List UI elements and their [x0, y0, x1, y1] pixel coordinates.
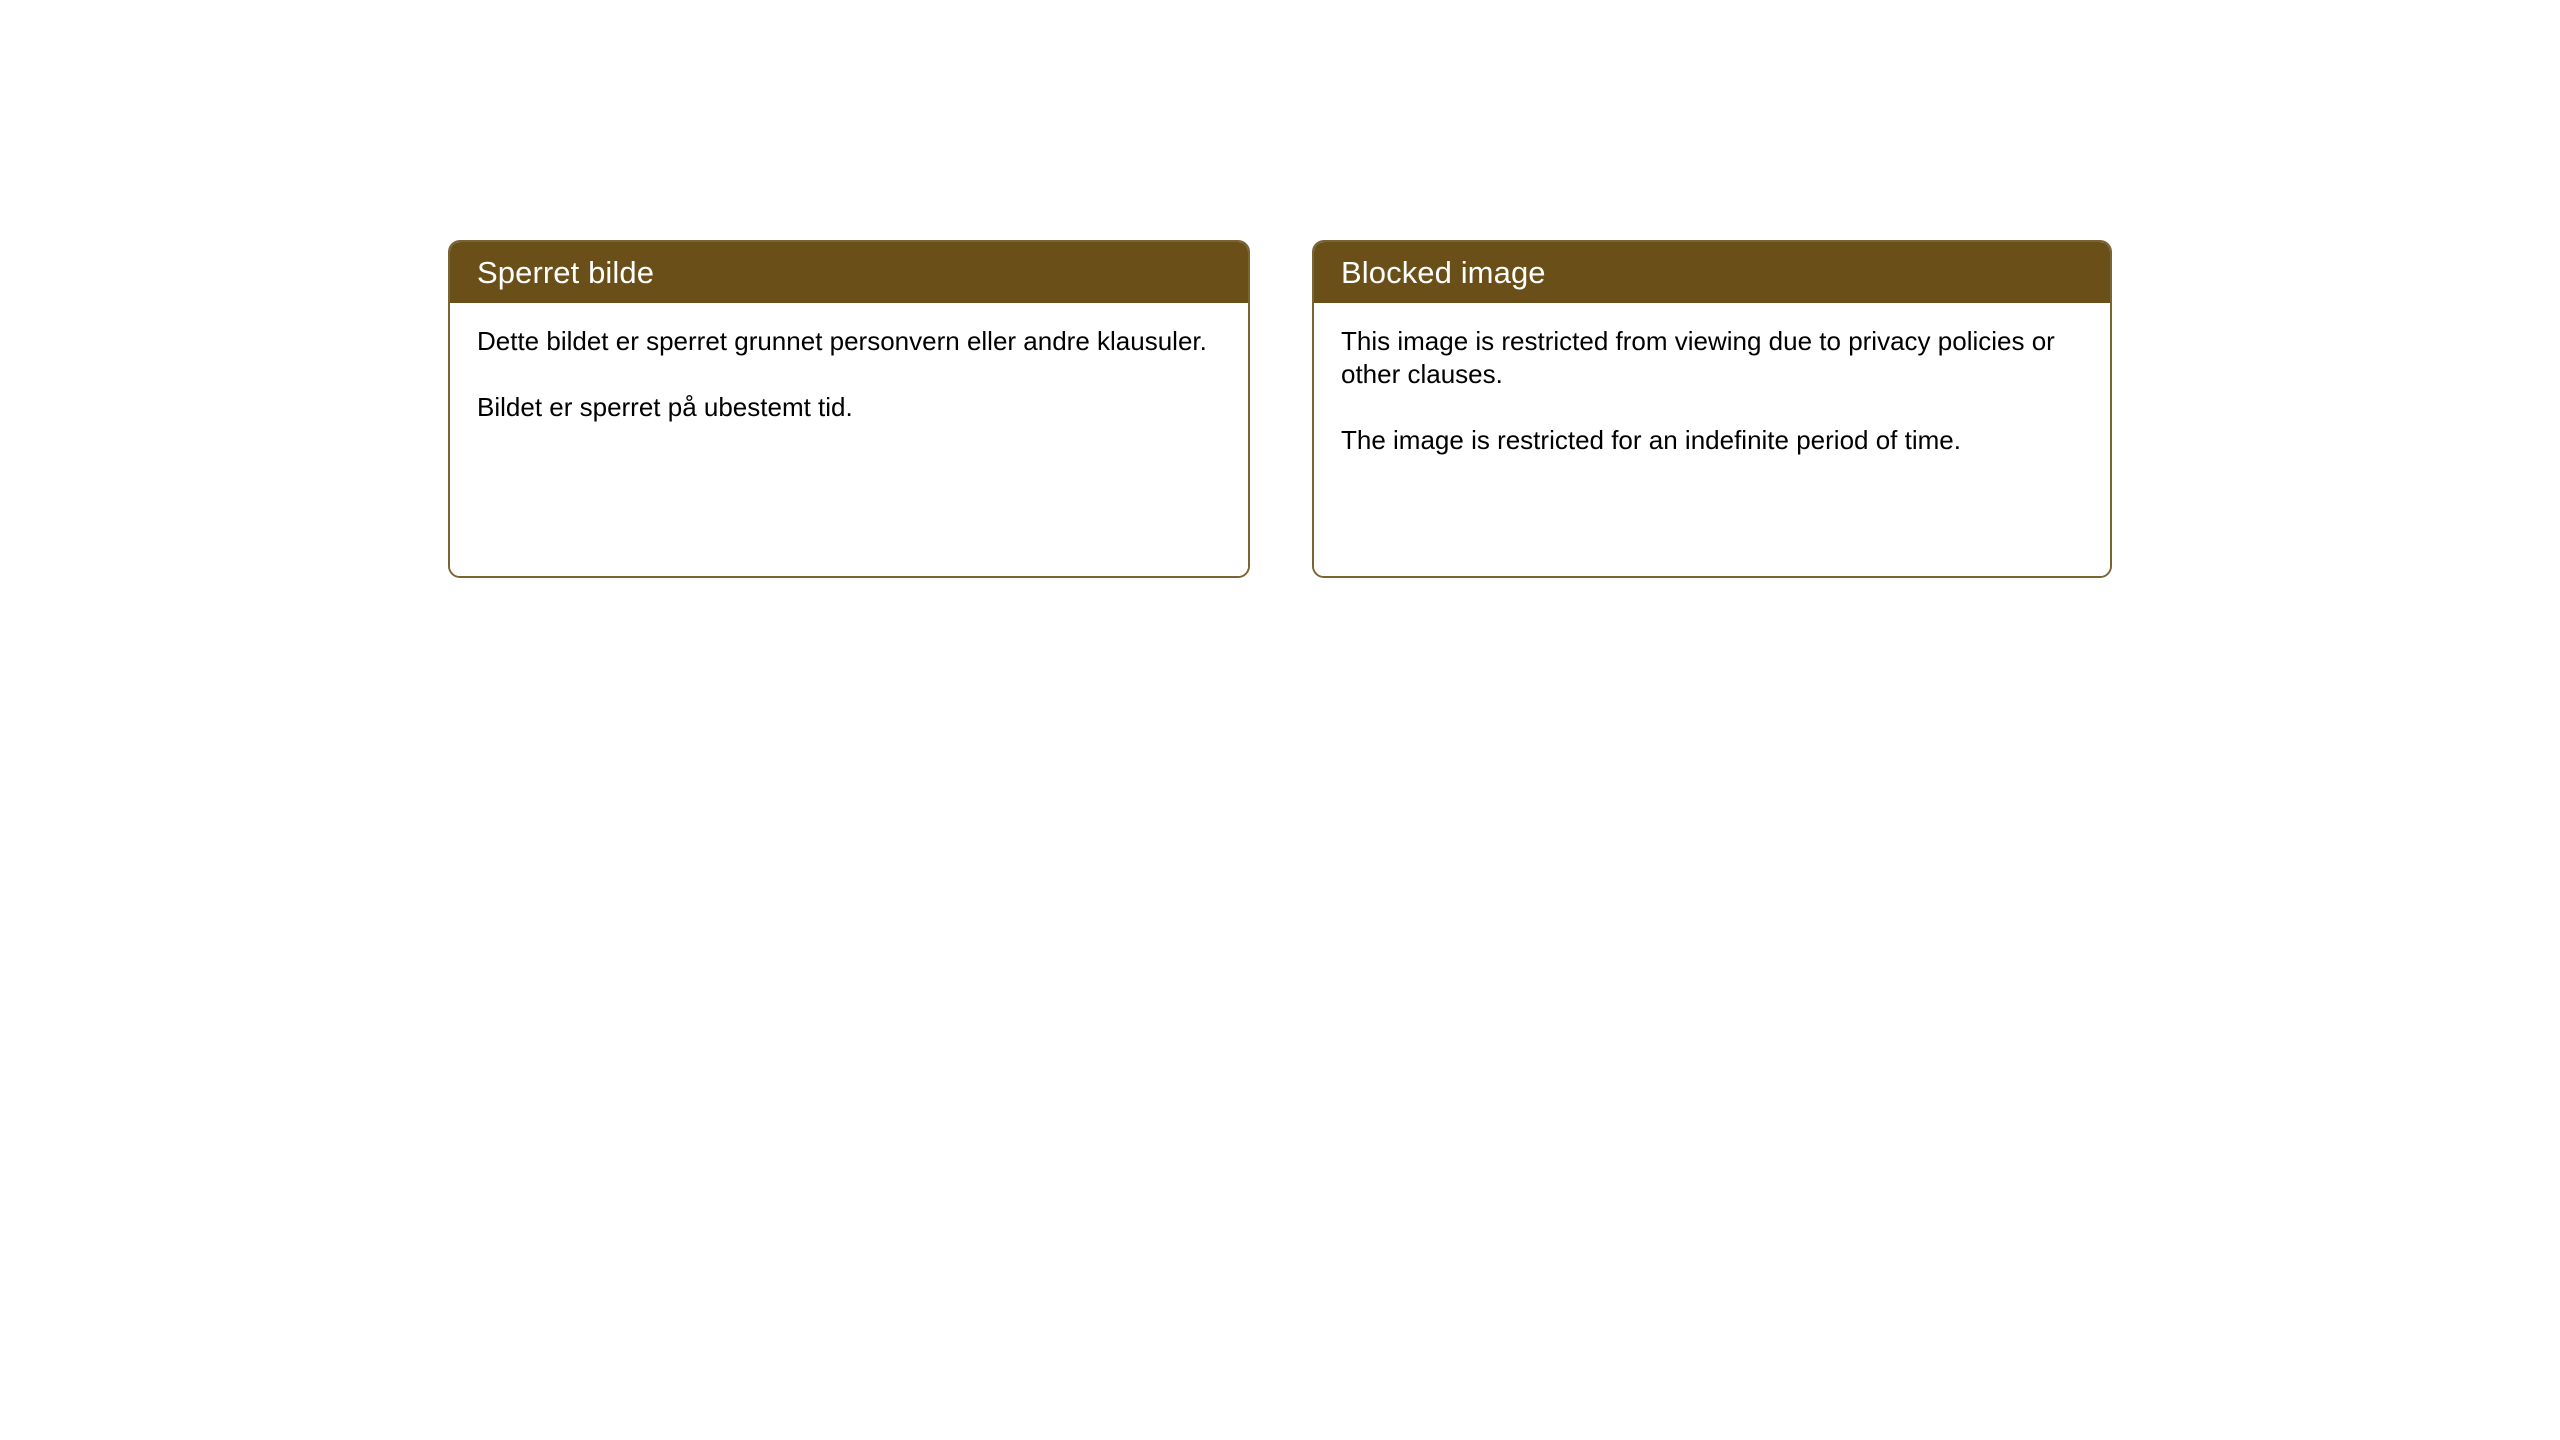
card-title-norwegian: Sperret bilde: [477, 257, 654, 288]
card-body-english: This image is restricted from viewing du…: [1314, 303, 2110, 576]
card-paragraph-reason-norwegian: Dette bildet er sperret grunnet personve…: [477, 325, 1207, 358]
card-body-norwegian: Dette bildet er sperret grunnet personve…: [450, 303, 1248, 576]
card-title-english: Blocked image: [1341, 257, 1546, 288]
card-paragraph-duration-english: The image is restricted for an indefinit…: [1341, 424, 1961, 457]
blocked-image-card-norwegian: Sperret bilde Dette bildet er sperret gr…: [448, 240, 1250, 578]
card-paragraph-duration-norwegian: Bildet er sperret på ubestemt tid.: [477, 391, 853, 424]
blocked-image-notice-group: Sperret bilde Dette bildet er sperret gr…: [448, 240, 2112, 578]
card-header-norwegian: Sperret bilde: [450, 242, 1248, 303]
card-paragraph-reason-english: This image is restricted from viewing du…: [1341, 325, 2081, 391]
card-header-english: Blocked image: [1314, 242, 2110, 303]
page-root: Sperret bilde Dette bildet er sperret gr…: [0, 0, 2560, 1440]
blocked-image-card-english: Blocked image This image is restricted f…: [1312, 240, 2112, 578]
